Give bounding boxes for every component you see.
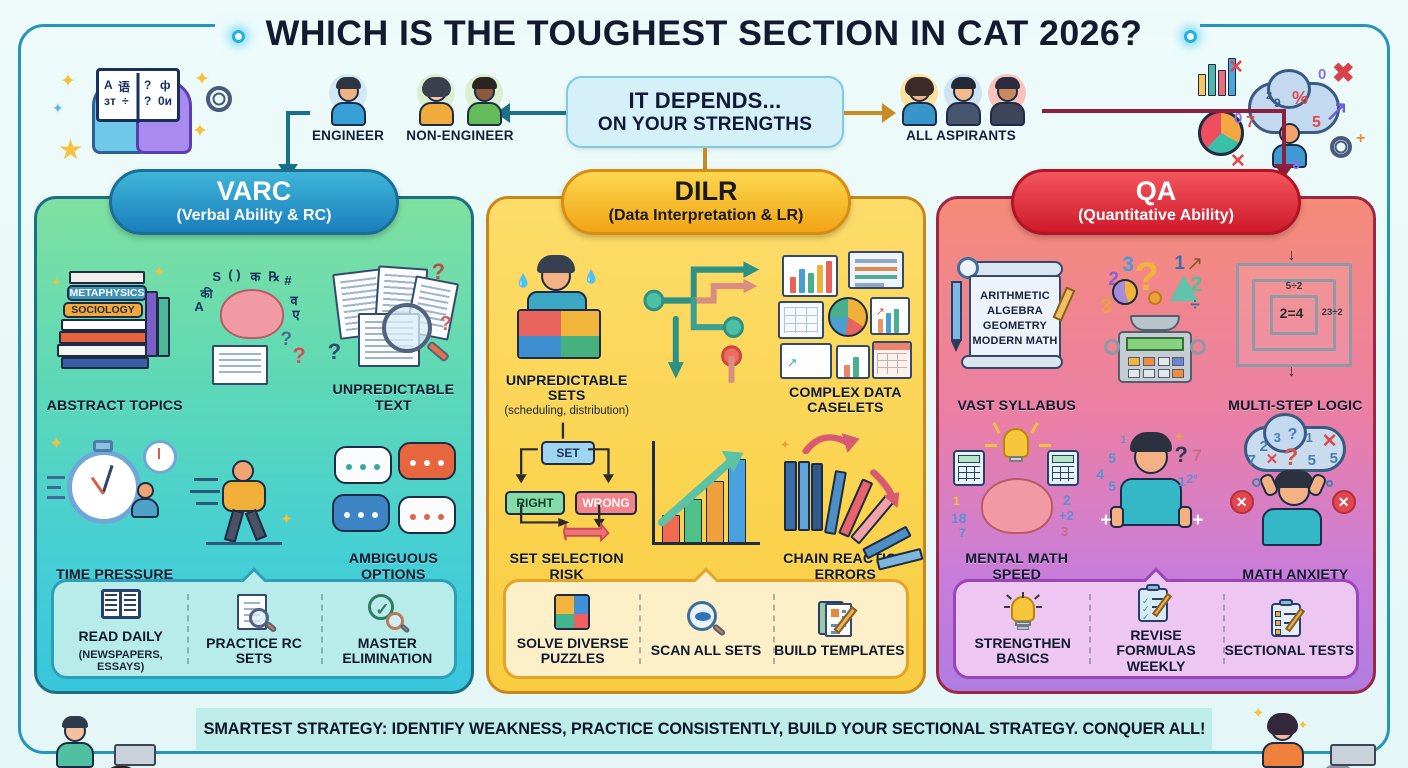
tip-strengthen-basics[interactable]: STRENGTHEN BASICS (956, 582, 1089, 676)
sparkle-icon: ✦ (280, 510, 293, 528)
avatar (325, 72, 371, 128)
sparkle-icon: ✦ (1298, 718, 1308, 732)
connector-hub-to-right (844, 111, 884, 115)
syllabus-line: ARITHMETIC (980, 290, 1050, 302)
connector-left-vert (286, 111, 290, 167)
sparkle-icon: ✦ (194, 68, 210, 91)
panel-qa-tips: STRENGTHEN BASICS ✓ ✓ ✓ REVISE FORMULAS … (953, 579, 1359, 679)
it-depends-box: IT DEPENDS... ON YOUR STRENGTHS (566, 76, 844, 148)
syllabus-scroll-icon: ARITHMETIC ALGEBRA GEOMETRY MODERN MATH (947, 247, 1086, 399)
it-depends-line1: IT DEPENDS... (629, 88, 782, 114)
maze-label: 2=4 (1280, 305, 1304, 321)
students-right-illustration: ✦ ✦ (1250, 702, 1400, 766)
documents-magnifier-icon: ? ? ? (324, 247, 463, 383)
stopwatch-runner-icon: ✦ (45, 416, 184, 568)
bottom-banner: SMARTEST STRATEGY: IDENTIFY WEAKNESS, PR… (196, 708, 1212, 750)
feature-chain-reaction-errors: ✦ CHAIN REACTION ERRORS (776, 419, 915, 585)
runner-icon: ✦ (184, 416, 323, 568)
feature-label: VAST SYLLABUS (957, 399, 1075, 414)
connector-right-horiz (1042, 109, 1286, 113)
feature-abstract-topics: METAPHYSICS SOCIOLOGY ✦ ✦ ABSTRACT TOPIC… (45, 247, 184, 416)
feature-multi-step-logic: 2=4 5÷2 23÷2 ↓ ↓ MULTI-STEP LOGIC (1226, 247, 1365, 416)
decor-left-cluster: A 语 зт ÷ ? ф ? 0и ✦ ✦ ✦ ✦ ★ (44, 58, 244, 166)
sparkle-icon: ✦ (52, 100, 64, 117)
avatar (52, 712, 100, 766)
all-aspirants-label: ALL ASPIRANTS (896, 128, 1026, 143)
feature-runner: ✦ (184, 416, 323, 585)
panel-qa-features: ARITHMETIC ALGEBRA GEOMETRY MODERN MATH … (947, 247, 1365, 585)
feature-sublabel: (scheduling, distribution) (504, 405, 629, 417)
bar-chart-arrow-icon (636, 419, 775, 568)
feature-label: UNPREDICTABLE SETS (497, 374, 636, 405)
sparkle-icon: ✦ (153, 263, 166, 281)
maze-icon: 2=4 5÷2 23÷2 ↓ ↓ (1226, 247, 1365, 399)
pie-chart-icon (828, 297, 868, 337)
feature-unpredictable-sets: 💧 💧 UNPREDICTABLE SETS (scheduling, dist… (497, 247, 636, 419)
syllabus-line: GEOMETRY (983, 320, 1047, 332)
stressed-person-icon (1266, 114, 1312, 170)
feature-numbers-machine: ? 2 3 1 2 3 ÷ ↗ (1086, 247, 1225, 416)
sparkle-icon: ✦ (51, 275, 61, 289)
tip-label: REVISE FORMULAS WEEKLY (1089, 628, 1222, 674)
panel-varc-tips: READ DAILY (NEWSPAPERS, ESSAYS) PRACTICE… (51, 579, 457, 679)
feature-complex-data-caselets: ↗ ↗ COMPLEX DATA CASELETS (776, 247, 915, 419)
panel-varc: VARC (Verbal Ability & RC) METAPHYSICS S… (34, 196, 474, 694)
infographic-canvas: WHICH IS THE TOUGHEST SECTION IN CAT 202… (0, 0, 1408, 768)
laptop-icon (114, 744, 156, 766)
falling-books-icon: ✦ (776, 419, 915, 553)
feature-label: MULTI-STEP LOGIC (1228, 399, 1362, 414)
sparkle-icon: ✦ (1252, 704, 1265, 722)
syllabus-line: MODERN MATH (972, 335, 1057, 347)
feature-label: ABSTRACT TOPICS (47, 399, 183, 414)
avatar (896, 72, 938, 128)
engineer-label: ENGINEER (306, 128, 390, 143)
panel-qa-title: QA (1136, 178, 1177, 205)
running-person-icon (127, 478, 171, 534)
books-stack-icon: METAPHYSICS SOCIOLOGY ✦ ✦ (45, 247, 184, 399)
all-aspirants-group: ALL ASPIRANTS (896, 72, 1026, 143)
panel-varc-header: VARC (Verbal Ability & RC) (109, 169, 399, 235)
open-book-icon (100, 585, 142, 625)
document-magnifier-icon (233, 592, 275, 632)
feature-vast-syllabus: ARITHMETIC ALGEBRA GEOMETRY MODERN MATH … (947, 247, 1086, 416)
sparkle-icon: ✦ (192, 120, 208, 143)
sparkle-icon: ✦ (49, 434, 63, 454)
clipboard-pencil-icon: ✓ ✓ ✓ (1135, 584, 1177, 624)
gear-icon (206, 86, 232, 112)
panel-dilr-features: 💧 💧 UNPREDICTABLE SETS (scheduling, dist… (497, 247, 915, 585)
tip-read-daily[interactable]: READ DAILY (NEWSPAPERS, ESSAYS) (54, 582, 187, 676)
it-depends-line2: ON YOUR STRENGTHS (598, 114, 812, 136)
flow-svg (636, 247, 775, 401)
avatar (984, 72, 1026, 128)
confused-student-icon: 5 4 5 1 ? 7 2° 1 ✦ + + (1086, 416, 1225, 568)
panel-dilr-header: DILR (Data Interpretation & LR) (561, 169, 851, 235)
feature-confused-student: 5 4 5 1 ? 7 2° 1 ✦ + + (1086, 416, 1225, 585)
flow-lines (497, 419, 636, 553)
panel-qa-subtitle: (Quantitative Ability) (1078, 206, 1234, 226)
anxious-student-cloud-icon: 2 3 ? 1 ✕ 7 ✕ ? 5 5 ✕ ✕ (1226, 416, 1365, 568)
panel-dilr-title: DILR (675, 178, 738, 205)
tip-sectional-tests[interactable]: SECTIONAL TESTS (1223, 582, 1356, 676)
book-tag-metaphysics: METAPHYSICS (67, 285, 147, 301)
non-engineer-group: NON-ENGINEER (398, 72, 522, 143)
checkmark-magnifier-icon: ✓ (366, 592, 408, 632)
cross-badge-icon: ✕ (1332, 490, 1356, 514)
maze-label: 23÷2 (1322, 307, 1343, 318)
maze-label: 5÷2 (1286, 281, 1303, 292)
star-icon: ★ (58, 136, 83, 164)
tip-label: MASTER ELIMINATION (321, 636, 454, 667)
book-tag-sociology: SOCIOLOGY (63, 302, 143, 318)
trend-arrow (636, 419, 775, 568)
tip-sublabel: (NEWSPAPERS, ESSAYS) (54, 649, 187, 673)
tip-label: SECTIONAL TESTS (1224, 643, 1354, 658)
tip-build-templates[interactable]: BUILD TEMPLATES (773, 582, 906, 676)
chain-arrows (776, 419, 915, 553)
document-pencil-icon (818, 599, 860, 639)
set-decision-tree-icon: SET RIGHT WRONG (497, 419, 636, 553)
tip-practice-rc-sets[interactable]: PRACTICE RC SETS (187, 582, 320, 676)
students-left-illustration (48, 704, 208, 766)
tip-label: SCAN ALL SETS (651, 643, 761, 658)
panel-dilr-subtitle: (Data Interpretation & LR) (609, 206, 804, 226)
cross-badge-icon: ✕ (1230, 490, 1254, 514)
charts-tables-cluster-icon: ↗ ↗ (776, 247, 915, 386)
tip-label: BUILD TEMPLATES (774, 643, 904, 658)
sparkle-icon: ✦ (60, 70, 76, 93)
avatar (413, 72, 459, 128)
panel-varc-title: VARC (217, 178, 292, 205)
feature-label: COMPLEX DATA CASELETS (776, 386, 915, 417)
lightbulb-icon (1003, 428, 1029, 458)
confused-person-puzzle-icon: 💧 💧 (497, 247, 636, 374)
sparkle-icon: ✦ (780, 437, 791, 453)
connector-right-vert (1282, 109, 1286, 167)
tip-solve-diverse-puzzles[interactable]: SOLVE DIVERSE PUZZLES (506, 582, 639, 676)
checklist-pencil-icon (1268, 599, 1310, 639)
panel-qa-header: QA (Quantitative Ability) (1011, 169, 1301, 235)
math-machine-icon: ? 2 3 1 2 3 ÷ ↗ (1086, 247, 1225, 399)
tip-scan-all-sets[interactable]: SCAN ALL SETS (639, 582, 772, 676)
puzzle-icon (552, 592, 594, 632)
feature-ambiguous-options: AMBIGUOUS OPTIONS (324, 416, 463, 585)
panel-varc-subtitle: (Verbal Ability & RC) (177, 206, 332, 226)
panel-dilr-tips: SOLVE DIVERSE PUZZLES SCAN ALL SETS (503, 579, 909, 679)
page-title: WHICH IS THE TOUGHEST SECTION IN CAT 202… (0, 14, 1408, 54)
calculator-icon (1047, 450, 1079, 486)
tip-label: READ DAILY (79, 629, 163, 644)
speech-bubbles-icon (324, 416, 463, 552)
panel-varc-features: METAPHYSICS SOCIOLOGY ✦ ✦ ABSTRACT TOPIC… (45, 247, 463, 585)
feature-unpredictable-text: ? ? ? UNPREDICTABLE TEXT (324, 247, 463, 416)
panel-qa: QA (Quantitative Ability) ARITHMETIC ALG… (936, 196, 1376, 694)
avatar (461, 72, 507, 128)
avatar (940, 72, 982, 128)
feature-time-pressure: ✦ TIME PRESSURE (45, 416, 184, 585)
brain-calculators-icon: 1 18 7 2 +2 3 (947, 416, 1086, 552)
tip-label: SOLVE DIVERSE PUZZLES (506, 636, 639, 667)
feature-math-anxiety: 2 3 ? 1 ✕ 7 ✕ ? 5 5 ✕ ✕ (1226, 416, 1365, 585)
engineer-group: ENGINEER (306, 72, 390, 143)
feature-brain-symbols: S ( ) क ℞ # की A व ए ? ? (184, 247, 323, 416)
feature-set-selection-risk: SET RIGHT WRONG (497, 419, 636, 585)
tip-revise-formulas-weekly[interactable]: ✓ ✓ ✓ REVISE FORMULAS WEEKLY (1089, 582, 1222, 676)
wrench-icon (1190, 339, 1206, 355)
gear-icon (1330, 136, 1352, 158)
feature-mental-math-speed: 1 18 7 2 +2 3 MENTAL MATH SPEED (947, 416, 1086, 585)
non-engineer-label: NON-ENGINEER (398, 128, 522, 143)
bottom-banner-text: SMARTEST STRATEGY: IDENTIFY WEAKNESS, PR… (203, 720, 1205, 739)
arrow-right-icon (882, 103, 896, 123)
tip-master-elimination[interactable]: ✓ MASTER ELIMINATION (321, 582, 454, 676)
branching-arrows-icon (636, 247, 775, 401)
brain-icon: S ( ) क ℞ # की A व ए ? ? (184, 247, 323, 399)
eye-magnifier-icon (685, 599, 727, 639)
lightbulb-icon (1002, 592, 1044, 632)
panel-dilr: DILR (Data Interpretation & LR) 💧 💧 (486, 196, 926, 694)
feature-flow-arrows (636, 247, 775, 419)
pencil-icon (951, 281, 962, 341)
laptop-icon (1330, 744, 1376, 766)
feature-label: UNPREDICTABLE TEXT (324, 383, 463, 414)
tip-label: PRACTICE RC SETS (187, 636, 320, 667)
tip-label: STRENGTHEN BASICS (956, 636, 1089, 667)
feature-growth-chart (636, 419, 775, 585)
syllabus-line: ALGEBRA (987, 305, 1043, 317)
calculator-icon (953, 450, 985, 486)
